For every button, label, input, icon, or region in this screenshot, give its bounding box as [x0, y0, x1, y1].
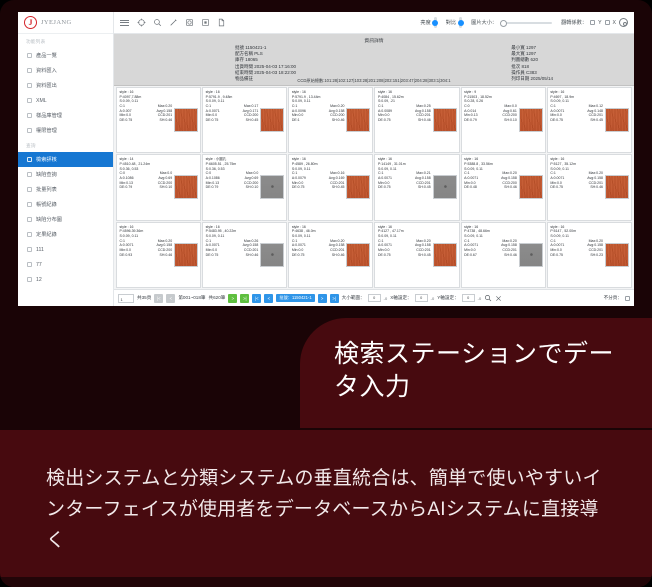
metric-key: C:1 — [378, 104, 383, 108]
metric-key: A:0.0071 — [550, 176, 564, 180]
cell-size: S:0.09, 0.11 — [550, 234, 603, 238]
metric-key: A:0.0096 — [292, 109, 306, 113]
cell-info: style : 16P:4097,7.88mS:0.09, 0.11C:1Max… — [120, 90, 173, 150]
metric-value: Max:0.0 — [160, 171, 172, 175]
cell-info: style : 16P:4638 , 46.0mS:0.09, 0.11C:1M… — [292, 225, 345, 285]
stamp-icon[interactable] — [185, 18, 194, 27]
metric-key: C:1 — [550, 104, 555, 108]
cell-metric-1: A:0.0071Avg:0.158 — [206, 243, 259, 247]
defect-thumbnail[interactable] — [346, 108, 370, 132]
cell-metric-1: A:0.0079Avg:0.169 — [292, 176, 345, 180]
metric-value: CCD:200 — [244, 181, 258, 185]
cell-size: S:0.09, 0.11 — [120, 99, 173, 103]
cell-style: style : 16 — [206, 90, 259, 94]
metric-value: SH:0.45 — [590, 118, 603, 122]
metric-value: Max:0.21 — [416, 171, 430, 175]
metric-key: A:0.0071 — [206, 109, 220, 113]
defect-thumbnail[interactable] — [174, 243, 198, 267]
cell-size: S:0.09, 0.11 — [292, 99, 345, 103]
metric-value: Avg:0.158 — [156, 243, 172, 247]
cell-metric-3: DE:0.75SH:0.23 — [550, 253, 603, 257]
description-text: 検出システムと分類システムの垂直統合は、簡単で使いやすいインターフェイスが使用者… — [46, 464, 608, 556]
metric-key: C:1 — [292, 104, 297, 108]
doc-icon — [27, 247, 32, 252]
metric-key: A:0.1086 — [120, 176, 134, 180]
cell-size: S:0.09, 0.11 — [378, 234, 431, 238]
cell-metric-2: Min:0.0CCD:201 — [292, 181, 345, 185]
metric-value: SH:0.45 — [246, 118, 259, 122]
doc-icon — [27, 202, 32, 207]
metric-key: Min:0.0 — [292, 181, 303, 185]
grid-cell[interactable]: style : 16P:5791.9 , 13.44mS:0.09, 0.11C… — [288, 87, 373, 153]
metric-key: Min:0.0 — [120, 113, 131, 117]
metric-key: C:1 — [464, 171, 469, 175]
defect-thumbnail[interactable] — [346, 175, 370, 199]
sidebar-item-4[interactable]: 缺陷分布圖 — [18, 212, 113, 227]
metric-value: CCD:200 — [244, 113, 258, 117]
menu-toggle-icon[interactable] — [120, 20, 129, 26]
image-size-label: 圖片大小： — [471, 19, 497, 26]
contrast-label: 對比 — [446, 19, 456, 26]
metric-key: A:0.0071 — [378, 243, 392, 247]
cell-metric-2: Min:0.13CCD:200 — [120, 181, 173, 185]
metric-key: Min:0.13 — [120, 181, 133, 185]
search-icon[interactable] — [153, 18, 162, 27]
metric-key: A:0.1086 — [206, 176, 220, 180]
cell-style: style : 16 — [120, 225, 173, 229]
main-area: 亮度 對比 圖片大小： 翻轉係數： Y X — [114, 12, 634, 306]
contrast-control[interactable]: 對比 — [446, 17, 462, 28]
size-min-input[interactable]: 0 — [368, 294, 381, 303]
sidebar-item-1[interactable]: 缺陷查詢 — [18, 167, 113, 182]
flip-x-checkbox[interactable] — [605, 20, 610, 25]
batch-first-button[interactable]: |< — [252, 294, 261, 303]
sidebar-item-2[interactable]: 批量列表 — [18, 182, 113, 197]
sidebar-item-label: 帳號紀錄 — [36, 201, 57, 208]
no-paging-checkbox[interactable] — [625, 296, 630, 301]
cell-metric-2: Min:0.0CCD:201 — [206, 248, 259, 252]
metric-value: CCD:200 — [502, 113, 516, 117]
batch-next-button[interactable]: > — [318, 294, 327, 303]
metric-value: Avg:0.169 — [329, 176, 345, 180]
metric-value: CCD:201 — [589, 113, 603, 117]
cell-position: P:4084 , 15.62m — [378, 95, 431, 99]
metric-key: C:1 — [206, 239, 211, 243]
sidebar-group-label-1: 功能列表 — [18, 34, 113, 48]
defect-thumbnail[interactable] — [605, 108, 629, 132]
flip-control[interactable]: 翻轉係數： Y X — [561, 18, 628, 27]
toolbar-icons — [137, 18, 226, 27]
sidebar-item-3[interactable]: XML — [18, 93, 113, 108]
metric-key: DE:0.75 — [292, 253, 305, 257]
flip-y-label: Y — [598, 20, 601, 26]
cell-size: S:0.09, 0.11 — [464, 234, 517, 238]
flip-label: 翻轉係數： — [561, 19, 587, 26]
metric-value: Max:0.17 — [244, 104, 258, 108]
cell-metric-3: DE:0.79SH:0.10 — [206, 185, 259, 189]
cell-info: style : 16P:5791.9 , 13.44mS:0.09, 0.11C… — [292, 90, 345, 150]
flip-y-checkbox[interactable] — [590, 20, 595, 25]
metric-key: Min:0.0 — [120, 248, 131, 252]
cell-info: style : 16P:4589 , 26.80mS:0.09, 0.11C:1… — [292, 157, 345, 217]
no-paging-control[interactable]: 不分頁： — [604, 295, 630, 301]
info-left-column: 批號 1150421-1配方名稱 PLS庫存 18065出貨時間 2025-04… — [235, 45, 296, 82]
cell-style: style : 9 — [464, 90, 517, 94]
cell-info: style : 16P:5483.95 , 40.22mS:0.09, 0.11… — [206, 225, 259, 285]
cell-metric-1: A:0.0071Avg:0.158 — [378, 243, 431, 247]
cell-metric-0: C:1Max:0.20 — [120, 104, 173, 108]
cell-metric-2: Min:0.0CCD:201 — [292, 248, 345, 252]
defect-thumbnail[interactable] — [519, 175, 543, 199]
cell-metric-2: Min:0.13CCD:200 — [464, 113, 517, 117]
sidebar-item-label: XML — [36, 98, 47, 104]
cell-info: style : 16P:4596.39.36mS:0.09, 0.11C:1Ma… — [120, 225, 173, 285]
cell-info: style : 16P:14149 , 31.01mS:0.09, 0.11C:… — [378, 157, 431, 217]
metric-value: Avg:0.158 — [243, 243, 259, 247]
cell-metric-0: C:1Max:0.25 — [378, 104, 431, 108]
pagination-bar: 1 共35頁 |< < 第001~018筆 共620筆 > >| |< < 批號… — [114, 289, 634, 306]
grid-cell[interactable]: style : 16P:4638 , 46.0mS:0.09, 0.11C:1M… — [288, 222, 373, 288]
metric-value: Avg:0.158 — [329, 109, 345, 113]
toolbar: 亮度 對比 圖片大小： 翻轉係數： Y X — [114, 12, 634, 34]
metric-key: C:1 — [120, 239, 125, 243]
metric-key: C:1 — [206, 104, 211, 108]
doc-icon — [27, 53, 32, 58]
first-page-button[interactable]: |< — [154, 294, 163, 303]
metric-key: DE:0.75 — [378, 118, 391, 122]
cell-position: P:4596.39.36m — [120, 229, 173, 233]
grid-cell[interactable]: style : 小圓孔P:6605.51 , 25.75mS:0.36, 0.5… — [202, 154, 287, 220]
info-panel: 資訊詳情 批號 1150421-1配方名稱 PLS庫存 18065出貨時間 20… — [114, 34, 634, 86]
defect-thumbnail[interactable] — [433, 175, 457, 199]
cell-metric-0: C:1Max:0.20 — [378, 239, 431, 243]
metric-value: Avg:0.158 — [415, 243, 431, 247]
metric-key: DE:0.79 — [120, 185, 133, 189]
search-icon[interactable] — [484, 294, 492, 302]
doc-icon — [27, 172, 32, 177]
cell-metric-0: C:1Max:0.20 — [550, 239, 603, 243]
defect-thumbnail[interactable] — [519, 243, 543, 267]
cell-metric-3: DE:0.75SH:0.45 — [292, 185, 345, 189]
metric-key: DE:0.48 — [464, 185, 477, 189]
sidebar-item-label: 樣品庫管理 — [36, 112, 62, 119]
cell-metric-0: C:1Max:0.16 — [292, 171, 345, 175]
cell-metric-2: Min:0.0CCD:201 — [550, 248, 603, 252]
metric-value: SH:0.46 — [332, 118, 345, 122]
sidebar-item-0[interactable]: 產品一覽 — [18, 48, 113, 63]
defect-thumbnail[interactable] — [605, 175, 629, 199]
cell-metric-1: A:0.0071Avg:0.158 — [120, 243, 173, 247]
gear-icon[interactable] — [619, 18, 628, 27]
sidebar-item-0[interactable]: 檢索評核 — [18, 152, 113, 167]
doc-icon — [27, 83, 32, 88]
cell-metric-3: DE:0.75SH:0.45 — [550, 118, 603, 122]
metric-value: SH:0.46 — [160, 118, 173, 122]
grid-cell[interactable]: style : 16P:5388.8 , 33.56mS:0.09, 0.11C… — [461, 154, 546, 220]
metric-value: CCD:200 — [502, 181, 516, 185]
grid-cell[interactable]: style : 14P:4510.48 , 21.24mS:0.36, 0.53… — [116, 154, 201, 220]
cell-size: S:0.09, 0.11 — [206, 99, 259, 103]
batch-prev-button[interactable]: < — [264, 294, 273, 303]
pencil-icon[interactable] — [169, 18, 178, 27]
cell-metric-2: Min:0.13CCD:200 — [206, 181, 259, 185]
sidebar-item-7[interactable]: 77 — [18, 257, 113, 272]
metric-value: Avg:0.158 — [587, 176, 603, 180]
grid-cell[interactable]: style : 16P:5147 , 52.00mS:0.09, 0.11C:1… — [547, 222, 632, 288]
sidebar-item-5[interactable]: 權限管理 — [18, 123, 113, 138]
cell-metric-1: A:0.0071Avg:0.158 — [464, 176, 517, 180]
next-page-button[interactable]: > — [228, 294, 237, 303]
close-icon[interactable] — [495, 295, 502, 302]
defect-thumbnail[interactable] — [174, 108, 198, 132]
sidebar-item-1[interactable]: 資料匯入 — [18, 63, 113, 78]
metric-key: Min:0.0 — [292, 248, 303, 252]
cell-metric-1: A:0.1086Avg:0.69 — [120, 176, 173, 180]
cell-size: S:0.36, 0.53 — [120, 167, 173, 171]
cell-metric-3: DE:1SH:0.46 — [292, 118, 345, 122]
grid-cell[interactable]: style : 9P:21503 , 18.52mS:0.28, 0.26C:0… — [461, 87, 546, 153]
sidebar-list-2: 檢索評核缺陷查詢批量列表帳號紀錄缺陷分布圖定果紀錄1117712 — [18, 152, 113, 287]
metric-value: Max:0.20 — [330, 104, 344, 108]
metric-value: Avg:0.158 — [415, 109, 431, 113]
square-icon[interactable] — [201, 18, 210, 27]
defect-thumbnail[interactable] — [605, 243, 629, 267]
metric-value: Max:0.0 — [246, 171, 258, 175]
cell-metric-0: C:0Max:0.0 — [120, 171, 173, 175]
y-axis-max-input[interactable]: -0 — [478, 296, 482, 301]
cell-style: style : 16 — [120, 90, 173, 94]
page-input[interactable]: 1 — [118, 294, 134, 303]
metric-value: CCD:201 — [330, 248, 344, 252]
cell-metric-0: C:1Max:0.20 — [550, 171, 603, 175]
cell-position: P:5791.9 , 9.48m — [206, 95, 259, 99]
cell-position: P:14149 , 31.01m — [378, 162, 431, 166]
metric-key: A:0.007 — [120, 109, 132, 113]
cell-metric-0: C:1Max:0.21 — [378, 171, 431, 175]
metric-value: CCD:201 — [244, 248, 258, 252]
cell-info: style : 小圓孔P:6605.51 , 25.75mS:0.36, 0.5… — [206, 157, 259, 217]
image-size-control[interactable]: 圖片大小： — [471, 19, 552, 26]
ccd-summary: CCD原始總數:101:28|102:127|103:28|201:208|20… — [114, 78, 634, 84]
defect-thumbnail[interactable] — [260, 243, 284, 267]
cell-style: style : 16 — [378, 157, 431, 161]
bottom-strip — [0, 577, 652, 587]
sidebar-list-1: 產品一覽資料匯入資料匯出XML樣品庫管理權限管理 — [18, 48, 113, 138]
cell-metric-0: C:1Max:0.20 — [292, 239, 345, 243]
cell-metric-3: DE:0.75SH:0.46 — [292, 253, 345, 257]
defect-thumbnail[interactable] — [174, 175, 198, 199]
cell-style: style : 16 — [292, 225, 345, 229]
cell-position: P:4697 , 18.9m — [550, 95, 603, 99]
metric-value: Avg:0.171 — [243, 109, 259, 113]
metric-value: Avg:0.158 — [501, 243, 517, 247]
cell-size: S:0.36, 0.53 — [206, 167, 259, 171]
image-grid: style : 16P:4097,7.88mS:0.09, 0.11C:1Max… — [116, 87, 632, 288]
sidebar-item-2[interactable]: 資料匯出 — [18, 78, 113, 93]
page-icon[interactable] — [217, 18, 226, 27]
sidebar-item-label: 12 — [36, 277, 42, 283]
grid-cell[interactable]: style : 16P:4697 , 18.9mS:0.09, 0.11C:1M… — [547, 87, 632, 153]
metric-key: A:0.0071 — [206, 243, 220, 247]
cell-metric-1: A:0.0071Avg:0.158 — [292, 243, 345, 247]
cell-metric-0: C:1Max:0.20 — [464, 239, 517, 243]
cell-style: style : 16 — [550, 157, 603, 161]
cell-metric-3: DE:0.79SH:0.10 — [464, 118, 517, 122]
metric-value: Max:0.16 — [330, 171, 344, 175]
grid-cell[interactable]: style : 16P:4589 , 26.80mS:0.09, 0.11C:1… — [288, 154, 373, 220]
metric-value: Max:0.20 — [589, 239, 603, 243]
metric-key: DE:0.75 — [550, 118, 563, 122]
sidebar-item-8[interactable]: 12 — [18, 272, 113, 287]
metric-key: C:0 — [120, 171, 125, 175]
metric-key: DE:0.75 — [120, 118, 133, 122]
metric-value: Max:0.26 — [244, 239, 258, 243]
metric-value: Avg:0.148 — [587, 109, 603, 113]
x-axis-max-input[interactable]: -0 — [431, 296, 435, 301]
defect-thumbnail[interactable] — [433, 243, 457, 267]
doc-icon — [27, 68, 32, 73]
brand: J JYEJANG — [18, 12, 113, 34]
cell-position: P:4510.48 , 21.24m — [120, 162, 173, 166]
cell-metric-0: C:1Max:0.12 — [550, 104, 603, 108]
grid-cell[interactable]: style : 16P:5127 , 35.12mS:0.09, 0.11C:1… — [547, 154, 632, 220]
sidebar-item-label: 資料匯出 — [36, 82, 57, 89]
grid-cell[interactable]: style : 16P:4097,7.88mS:0.09, 0.11C:1Max… — [116, 87, 201, 153]
cell-info: style : 16P:5127 , 35.12mS:0.09, 0.11C:1… — [550, 157, 603, 217]
defect-thumbnail[interactable] — [260, 175, 284, 199]
metric-value: CCD:201 — [330, 181, 344, 185]
batch-last-button[interactable]: >| — [330, 294, 339, 303]
doc-icon — [27, 157, 32, 162]
size-max-input[interactable]: -0 — [384, 296, 388, 301]
cell-metric-0: C:0Max:0.0 — [206, 171, 259, 175]
metric-value: CCD:200 — [330, 113, 344, 117]
info-row-1: 配方名稱 PLS — [235, 51, 296, 57]
sidebar-item-6[interactable]: 111 — [18, 242, 113, 257]
info-title: 資訊詳情 — [120, 37, 628, 44]
cell-style: style : 16 — [292, 90, 345, 94]
brightness-control[interactable]: 亮度 — [420, 17, 436, 28]
cell-metric-3: DE:0.75SH:0.45 — [206, 118, 259, 122]
metric-value: Max:0.20 — [502, 239, 516, 243]
sidebar-item-label: 111 — [36, 247, 44, 253]
x-axis-min-input[interactable]: 0 — [415, 294, 428, 303]
sidebar-item-5[interactable]: 定果紀錄 — [18, 227, 113, 242]
cell-position: P:5147 , 52.00m — [550, 229, 603, 233]
grid-cell[interactable]: style : 16P:4596.39.36mS:0.09, 0.11C:1Ma… — [116, 222, 201, 288]
metric-value: SH:0.46 — [246, 253, 259, 257]
record-range-label: 第001~018筆 — [178, 295, 205, 301]
cell-size: S:0.09, 0.11 — [464, 167, 517, 171]
metric-key: Min:0.0 — [464, 248, 475, 252]
target-icon[interactable] — [137, 18, 146, 27]
metric-value: SH:0.10 — [504, 118, 517, 122]
last-page-button[interactable]: >| — [240, 294, 249, 303]
metric-key: DE:0.75 — [206, 253, 219, 257]
brightness-label: 亮度 — [420, 19, 430, 26]
metric-key: A:0.0071 — [378, 176, 392, 180]
defect-thumbnail[interactable] — [433, 108, 457, 132]
cell-metric-1: A:0.007Avg:0.158 — [120, 109, 173, 113]
grid-cell[interactable]: style : 16P:14149 , 31.01mS:0.09, 0.11C:… — [374, 154, 459, 220]
cell-metric-0: C:1Max:0.26 — [206, 239, 259, 243]
info-row-3: 出貨時間 2025-04-03 17:16:00 — [235, 64, 296, 70]
metric-value: SH:0.10 — [160, 185, 173, 189]
grid-cell[interactable]: style : 16P:5791.9 , 9.48mS:0.09, 0.11C:… — [202, 87, 287, 153]
cell-metric-2: Min:0.0CCD:200 — [292, 113, 345, 117]
metric-value: Avg:0.69 — [245, 176, 259, 180]
metric-key: Min:0.0 — [550, 248, 561, 252]
cell-metric-1: A:0.0071Avg:0.158 — [550, 176, 603, 180]
cell-position: P:5127 , 35.12m — [550, 162, 603, 166]
metric-value: Avg:0.158 — [329, 243, 345, 247]
cell-metric-2: Min:0.0CCD:201 — [550, 113, 603, 117]
cell-info: style : 16P:5147 , 52.00mS:0.09, 0.11C:1… — [550, 225, 603, 285]
sidebar-item-4[interactable]: 樣品庫管理 — [18, 108, 113, 123]
grid-cell[interactable]: style : 16P:4084 , 15.62mS:0.09, .21C:1M… — [374, 87, 459, 153]
cell-metric-1: A:0.0071Avg:0.171 — [206, 109, 259, 113]
contrast-slider[interactable] — [459, 17, 462, 28]
grid-cell[interactable]: style : 16P:4738 , 48.66mS:0.09, 0.11C:1… — [461, 222, 546, 288]
info-row-2: 庫存 18065 — [235, 57, 296, 63]
metric-value: SH:0.46 — [590, 185, 603, 189]
metric-value: CCD:200 — [158, 248, 172, 252]
info-row-4: 結束時間 2025-04-03 18:22:00 — [235, 70, 296, 76]
defect-thumbnail[interactable] — [519, 108, 543, 132]
y-axis-min-input[interactable]: 0 — [462, 294, 475, 303]
caption-description-panel: 検出システムと分類システムの垂直統合は、簡単で使いやすいインターフェイスが使用者… — [0, 430, 652, 587]
doc-icon — [27, 98, 32, 103]
cell-style: style : 16 — [206, 225, 259, 229]
metric-key: C:1 — [120, 104, 125, 108]
metric-value: CCD:201 — [502, 248, 516, 252]
metric-key: Min:0.0 — [206, 248, 217, 252]
sidebar-item-3[interactable]: 帳號紀錄 — [18, 197, 113, 212]
brightness-slider[interactable] — [434, 17, 437, 28]
prev-page-button[interactable]: < — [166, 294, 175, 303]
defect-thumbnail[interactable] — [346, 243, 370, 267]
cell-info: style : 14P:4510.48 , 21.24mS:0.36, 0.53… — [120, 157, 173, 217]
metric-key: Min:0.0 — [550, 181, 561, 185]
grid-cell[interactable]: style : 16P:5483.95 , 40.22mS:0.09, 0.11… — [202, 222, 287, 288]
cell-info: style : 16P:5388.8 , 33.56mS:0.09, 0.11C… — [464, 157, 517, 217]
metric-key: DE:1 — [292, 118, 300, 122]
cell-info: style : 9P:21503 , 18.52mS:0.28, 0.26C:0… — [464, 90, 517, 150]
image-size-slider[interactable] — [500, 22, 552, 24]
defect-thumbnail[interactable] — [260, 108, 284, 132]
cell-style: style : 16 — [378, 225, 431, 229]
metric-value: Max:0.20 — [330, 239, 344, 243]
cell-style: style : 小圓孔 — [206, 157, 259, 161]
metric-key: A:0.0071 — [120, 243, 134, 247]
sidebar-item-label: 資料匯入 — [36, 67, 57, 74]
cell-size: S:0.09, .21 — [378, 99, 431, 103]
metric-key: C:1 — [550, 239, 555, 243]
cell-metric-3: DE:0.75SH:0.45 — [378, 253, 431, 257]
cell-info: style : 16P:4738 , 48.66mS:0.09, 0.11C:1… — [464, 225, 517, 285]
grid-cell[interactable]: style : 16P:4127 , 47.17mS:0.09, 0.11C:1… — [374, 222, 459, 288]
cell-metric-2: Min:0.0CCD:201 — [120, 113, 173, 117]
metric-value: SH:0.46 — [504, 185, 517, 189]
doc-icon — [27, 128, 32, 133]
doc-icon — [27, 277, 32, 282]
doc-icon — [27, 232, 32, 237]
metric-value: Max:0.20 — [502, 171, 516, 175]
cell-metric-1: A:0.0089Avg:0.158 — [378, 109, 431, 113]
metric-value: SH:0.10 — [246, 185, 259, 189]
metric-key: C:1 — [464, 239, 469, 243]
metric-value: Avg:0.61 — [503, 109, 517, 113]
